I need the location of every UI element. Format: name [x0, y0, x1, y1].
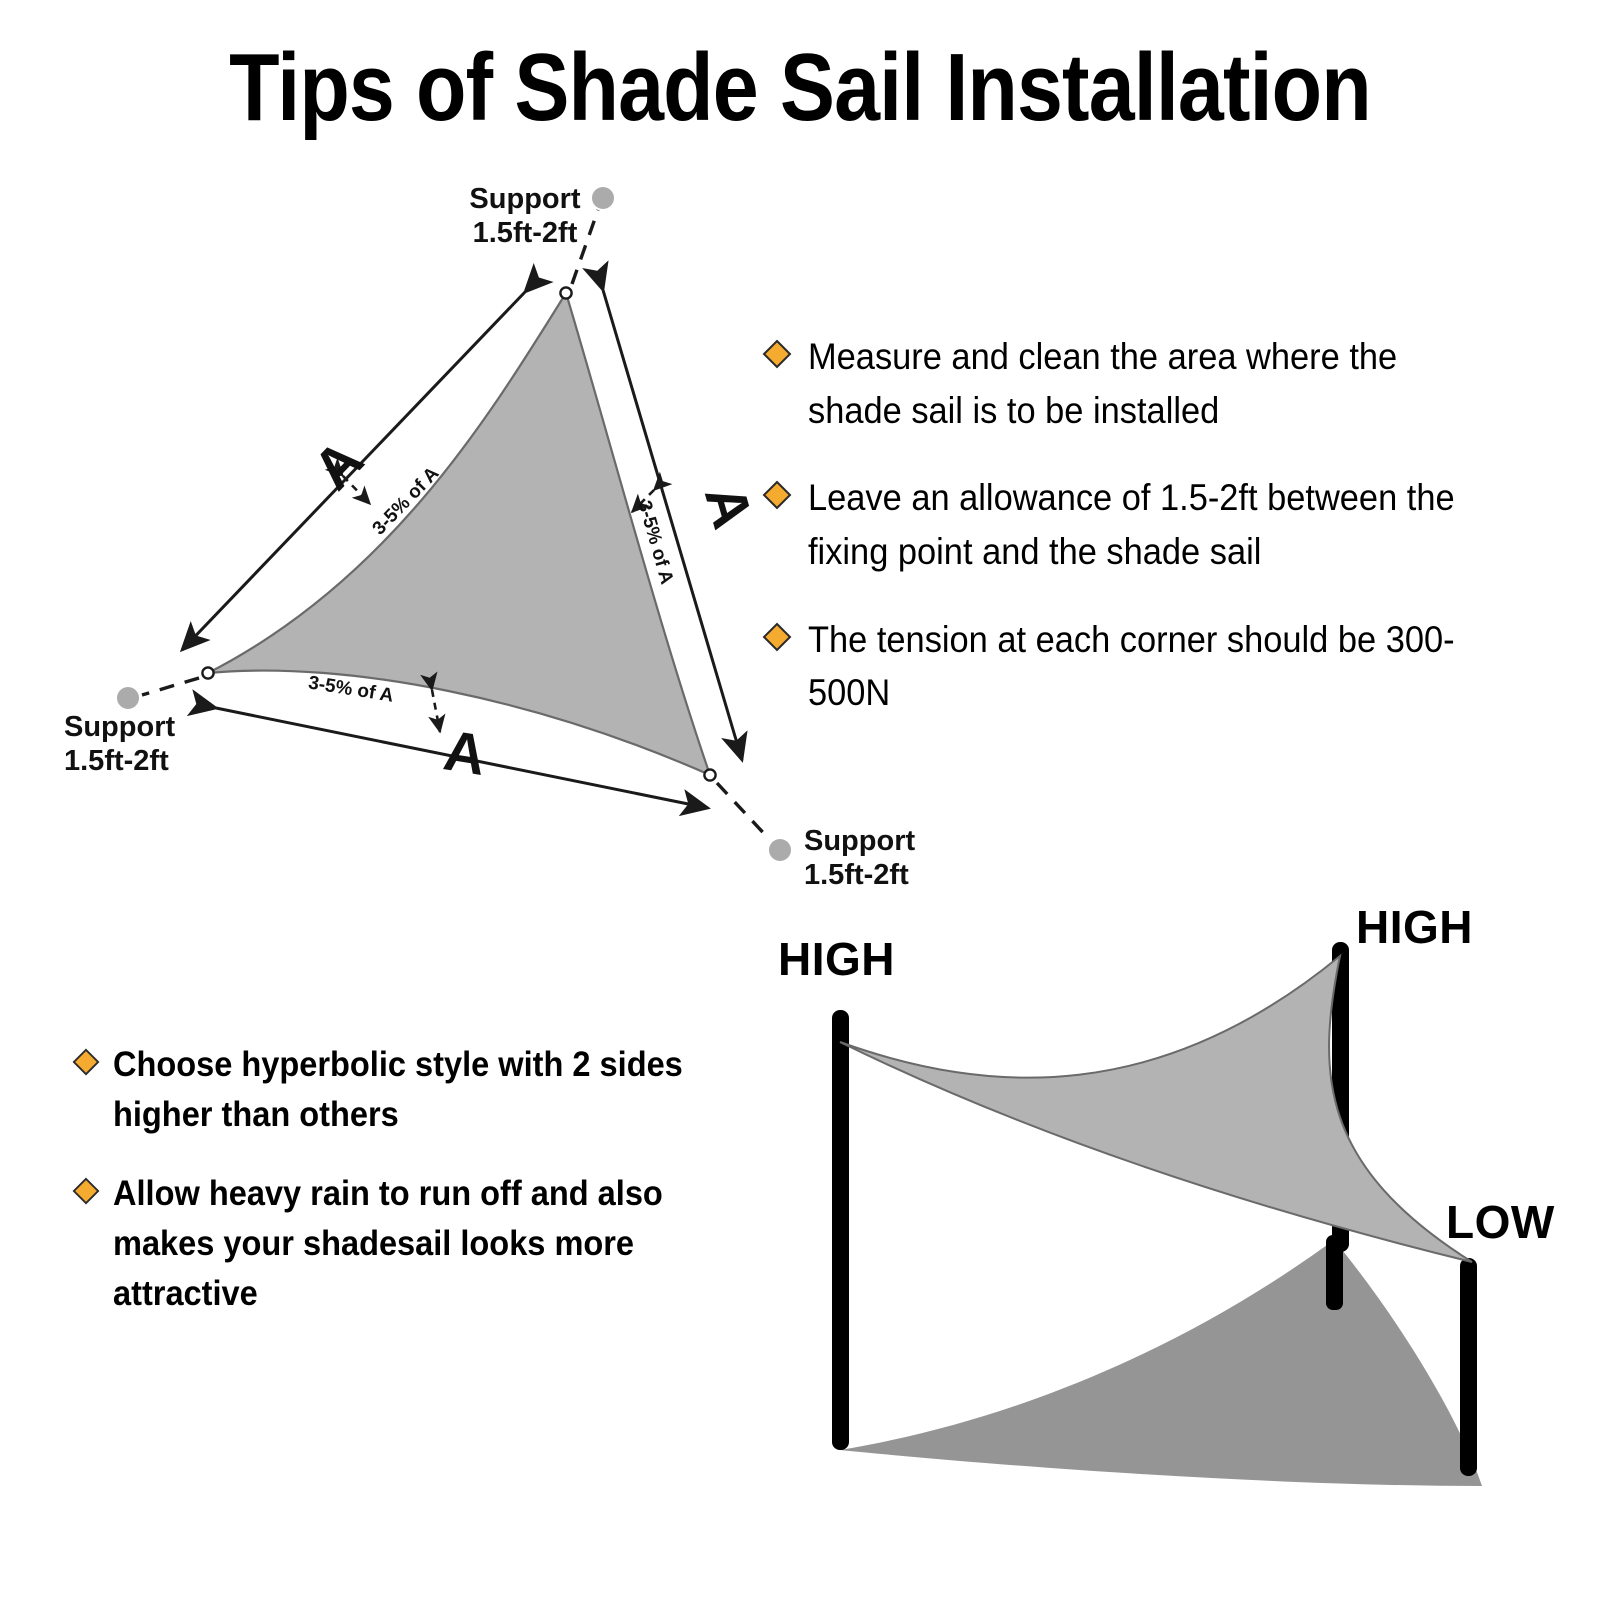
- diamond-bullet-icon: [762, 622, 792, 652]
- list-item: Choose hyperbolic style with 2 sides hig…: [72, 1040, 772, 1139]
- support-top-label-line1: Support: [469, 183, 580, 215]
- edge-left-side-label: A: [301, 428, 376, 502]
- support-bottom-left-label-line1: Support: [64, 711, 175, 743]
- support-leader-bottom-left: [142, 678, 199, 695]
- diamond-bullet-icon: [762, 480, 792, 510]
- diamond-bullet-icon: [72, 1048, 100, 1076]
- support-bottom-right-label-line2: 1.5ft-2ft: [804, 859, 909, 891]
- pole-low: [1460, 1258, 1477, 1476]
- page-title: Tips of Shade Sail Installation: [112, 40, 1488, 136]
- diamond-bullet-icon: [762, 339, 792, 369]
- list-item-text: Measure and clean the area where the sha…: [808, 330, 1472, 437]
- installation-tips-list-primary: Measure and clean the area where the sha…: [762, 330, 1522, 754]
- list-item: Measure and clean the area where the sha…: [762, 330, 1522, 437]
- edge-bottom-side-label: A: [440, 718, 491, 788]
- sail-ground-shadow: [840, 1240, 1482, 1486]
- support-bottom-left-label-line2: 1.5ft-2ft: [64, 745, 169, 777]
- hyperbolic-shade-sail-diagram: HIGH HIGH LOW: [760, 890, 1600, 1530]
- installation-tips-list-secondary: Choose hyperbolic style with 2 sides hig…: [72, 1040, 772, 1348]
- pole-left-high-label: HIGH: [778, 933, 895, 985]
- support-top-label-line2: 1.5ft-2ft: [473, 217, 578, 249]
- hyperbolic-diagram-canvas: HIGH HIGH LOW: [760, 890, 1600, 1530]
- corner-eyelet-bottom-right: [704, 769, 715, 780]
- corner-eyelet-top: [560, 287, 571, 298]
- diamond-bullet-icon: [72, 1177, 100, 1205]
- list-item: Allow heavy rain to run off and also mak…: [72, 1169, 772, 1318]
- pole-left-high: [832, 1010, 849, 1450]
- list-item: The tension at each corner should be 300…: [762, 613, 1522, 720]
- pole-low-label: LOW: [1446, 1196, 1555, 1248]
- list-item: Leave an allowance of 1.5-2ft between th…: [762, 471, 1522, 578]
- support-point-top: [592, 187, 614, 209]
- list-item-text: The tension at each corner should be 300…: [808, 613, 1472, 720]
- pole-right-high-label: HIGH: [1356, 901, 1473, 953]
- list-item-text: Choose hyperbolic style with 2 sides hig…: [113, 1040, 726, 1139]
- edge-right-side-label: A: [692, 478, 765, 535]
- list-item-text: Leave an allowance of 1.5-2ft between th…: [808, 471, 1472, 578]
- allowance-tick-edge-bottom: [432, 690, 440, 732]
- shade-sail-shape: [208, 293, 710, 775]
- pole-middle: [1326, 1235, 1343, 1310]
- list-item-text: Allow heavy rain to run off and also mak…: [113, 1169, 726, 1318]
- corner-eyelet-left: [202, 667, 213, 678]
- support-bottom-right-label-line1: Support: [804, 825, 915, 857]
- support-leader-bottom-right: [717, 783, 770, 840]
- hyperbolic-sail-shape: [840, 956, 1472, 1262]
- support-point-bottom-left: [117, 687, 139, 709]
- support-point-bottom-right: [769, 839, 791, 861]
